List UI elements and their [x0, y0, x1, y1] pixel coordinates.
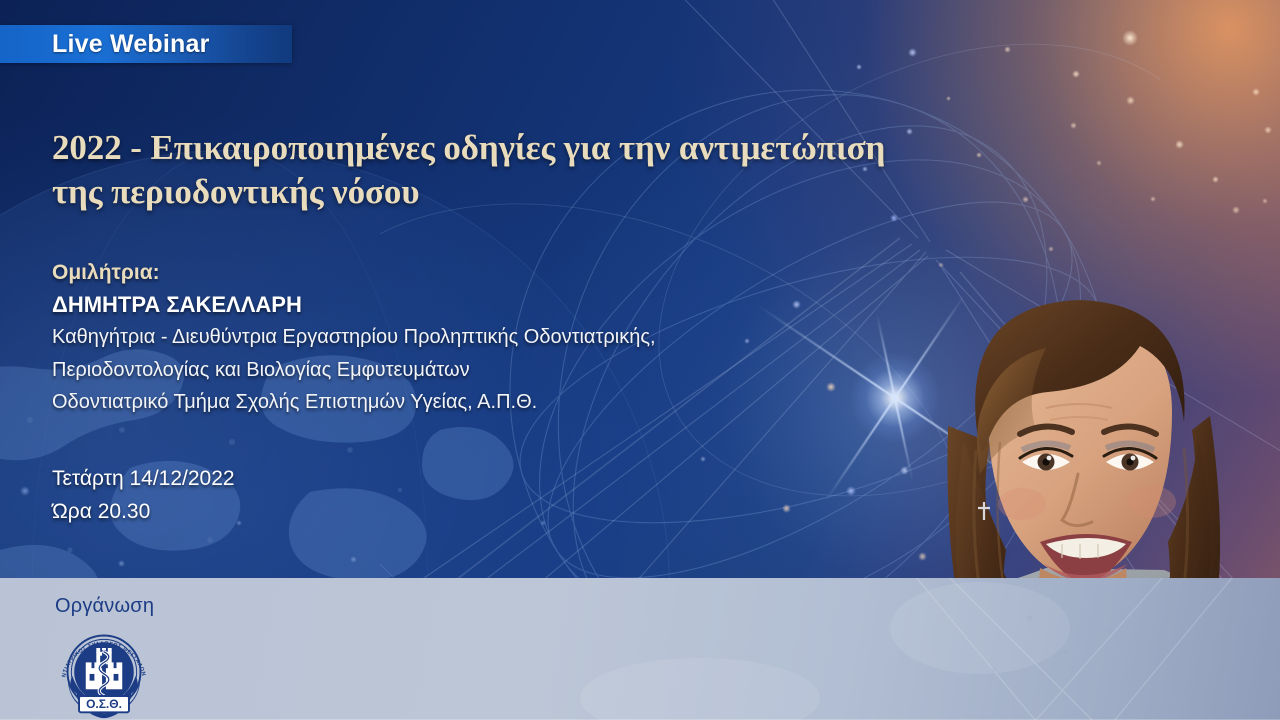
bokeh-dot — [236, 520, 242, 526]
title-line-1: 2022 - Επικαιροποιημένες οδηγίες για την… — [52, 128, 885, 167]
bokeh-dot — [1072, 70, 1080, 78]
event-date: Τετάρτη 14/12/2022 — [52, 462, 235, 495]
title-line-2: της περιοδοντικής νόσου — [52, 170, 1052, 214]
logo-acronym: Ο.Σ.Θ. — [86, 697, 122, 711]
bokeh-dot — [946, 96, 951, 101]
live-webinar-banner: Live Webinar — [0, 25, 292, 63]
bokeh-dot — [908, 48, 917, 57]
bokeh-dot — [1264, 126, 1272, 134]
bokeh-dot — [1232, 206, 1240, 214]
bokeh-dot — [1004, 46, 1011, 53]
bokeh-dot — [118, 560, 125, 567]
bokeh-dot — [1262, 198, 1268, 204]
speaker-label: Ομιλήτρια: — [52, 258, 952, 288]
bokeh-dot — [20, 486, 30, 496]
osth-logo: ΟΔΟΝΤΙΑΤΡΙΚΟΣ ΣΥΛΛΟΓΟΣ ΘΕΣΣΑΛΟΝΙΚΗΣ — [56, 624, 152, 720]
bokeh-dot — [1070, 122, 1077, 129]
bokeh-dot — [1252, 88, 1260, 96]
bokeh-dot — [890, 214, 898, 222]
organizer-label: Οργάνωση — [55, 595, 154, 618]
bokeh-dot — [1212, 176, 1219, 183]
live-webinar-label: Live Webinar — [0, 30, 210, 59]
footer-bar: Οργάνωση ΟΔΟΝΤΙΑΤΡΙΚΟΣ ΣΥΛΛΟΓΟΣ — [0, 578, 1280, 720]
bokeh-dot — [782, 504, 791, 513]
bokeh-dot — [540, 520, 546, 526]
bokeh-dot — [856, 64, 862, 70]
footer-sheen-graphic — [0, 578, 1280, 720]
speaker-credential-line: Περιοδοντολογίας και Βιολογίας Εμφυτευμά… — [52, 354, 952, 386]
event-time: Ώρα 20.30 — [52, 495, 235, 528]
bokeh-dot — [700, 456, 706, 462]
schedule-block: Τετάρτη 14/12/2022 Ώρα 20.30 — [52, 462, 235, 528]
speaker-credential-line: Οδοντιατρικό Τμήμα Σχολής Επιστημών Υγεί… — [52, 386, 952, 418]
bokeh-dot — [1096, 160, 1102, 166]
bokeh-dot — [350, 556, 357, 563]
bokeh-dot — [1175, 140, 1184, 149]
bokeh-dot — [1122, 30, 1138, 46]
speaker-block: Ομιλήτρια: ΔΗΜΗΤΡΑ ΣΑΚΕΛΛΑΡΗ Καθηγήτρια … — [52, 258, 952, 419]
speaker-name: ΔΗΜΗΤΡΑ ΣΑΚΕΛΛΑΡΗ — [52, 288, 952, 321]
bokeh-dot — [846, 486, 856, 496]
speaker-credential-line: Καθηγήτρια - Διευθύντρια Εργαστηρίου Προ… — [52, 321, 952, 353]
page-title: 2022 - Επικαιροποιημένες οδηγίες για την… — [52, 126, 1052, 214]
bokeh-dot — [1150, 196, 1156, 202]
webinar-poster: Live Webinar 2022 - Επικαιροποιημένες οδ… — [0, 0, 1280, 720]
bokeh-dot — [1126, 96, 1135, 105]
